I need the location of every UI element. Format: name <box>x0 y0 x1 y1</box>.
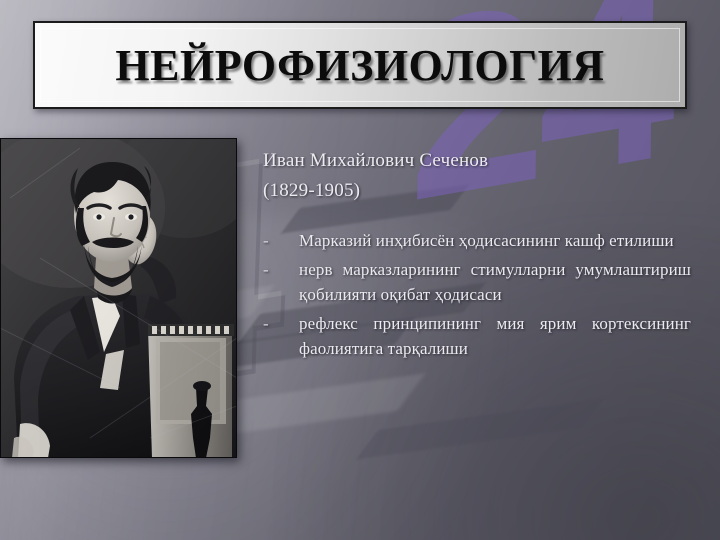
bullet-dash-icon: - <box>263 228 269 254</box>
portrait-photo <box>0 138 237 458</box>
list-item-text: Марказий инҳибисён ҳодисасининг кашф ети… <box>299 231 674 250</box>
bullet-list: - Марказий инҳибисён ҳодисасининг кашф е… <box>263 228 691 362</box>
list-item: - Марказий инҳибисён ҳодисасининг кашф е… <box>263 228 691 254</box>
slide: 24 24 НЕЙРОФИЗИОЛОГИЯ <box>0 0 720 540</box>
bullet-dash-icon: - <box>263 311 269 337</box>
person-name: Иван Михайлович Сеченов <box>263 146 691 176</box>
page-title: НЕЙРОФИЗИОЛОГИЯ <box>115 40 604 91</box>
slide-title-inner-border: НЕЙРОФИЗИОЛОГИЯ <box>40 28 680 102</box>
portrait-illustration <box>0 138 237 458</box>
bullet-dash-icon: - <box>263 257 269 283</box>
list-item: - нерв марказларининг стимулларни умумла… <box>263 257 691 308</box>
list-item-text: нерв марказларининг стимулларни умумлашт… <box>299 260 691 305</box>
person-years: (1829-1905) <box>263 176 691 206</box>
slide-body: Иван Михайлович Сеченов (1829-1905) - Ма… <box>263 146 691 365</box>
list-item: - рефлекс принципининг мия ярим кортекси… <box>263 311 691 362</box>
list-item-text: рефлекс принципининг мия ярим кортексини… <box>299 314 691 359</box>
slide-title-box: НЕЙРОФИЗИОЛОГИЯ <box>33 21 687 109</box>
